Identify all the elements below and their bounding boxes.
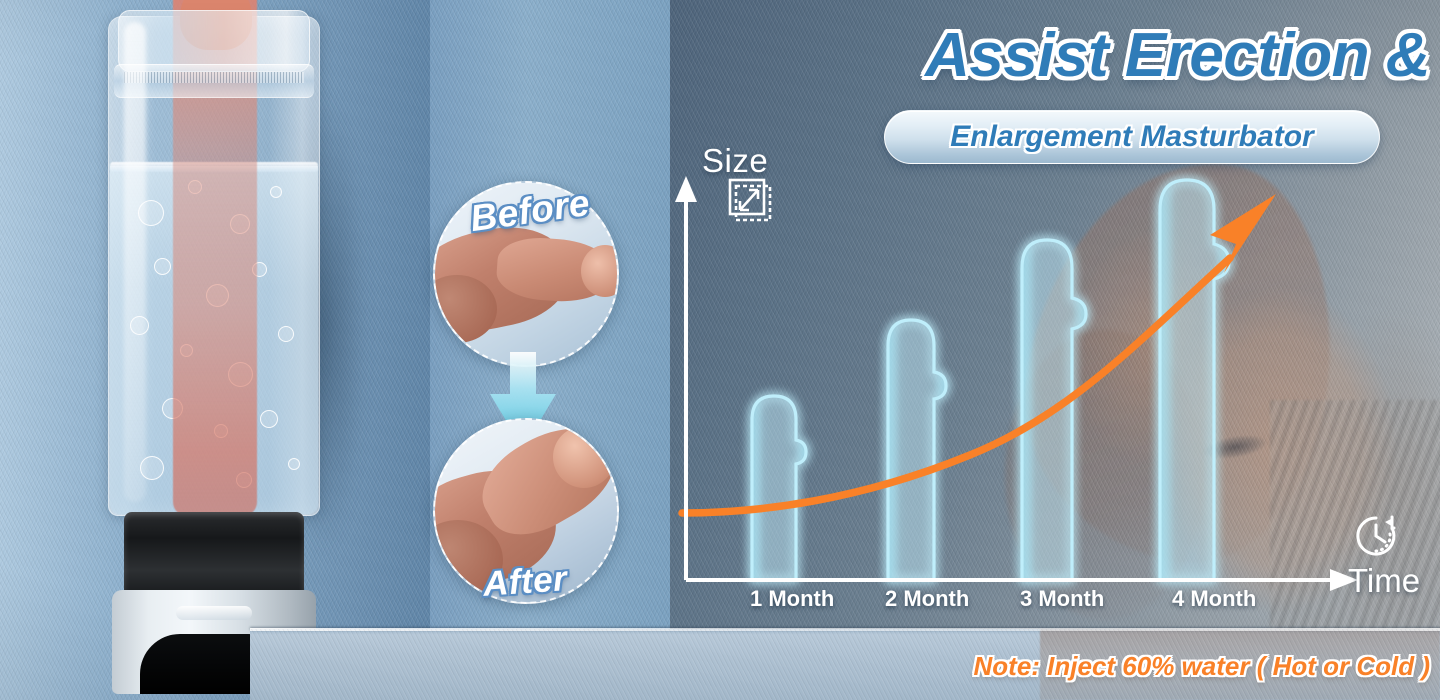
bar-4-month [1160, 180, 1229, 580]
bar-1-month [752, 396, 806, 580]
x-tick-4-month: 4 Month [1172, 586, 1256, 612]
after-label: After [482, 559, 569, 605]
growth-chart [670, 140, 1440, 640]
y-axis-label: Size [702, 142, 768, 180]
x-axis-label: Time [1348, 562, 1420, 600]
x-tick-3-month: 3 Month [1020, 586, 1104, 612]
product-ring-teeth [124, 72, 304, 83]
x-tick-1-month: 1 Month [750, 586, 834, 612]
chart-bars [752, 180, 1229, 580]
y-axis-arrowhead [675, 176, 697, 202]
page-title: Assist Erection & [770, 14, 1430, 98]
advertisement-banner: Before After Assist Erection & Enlargeme… [0, 0, 1440, 700]
product-cap [118, 10, 310, 72]
product-highlight [124, 22, 146, 502]
expand-resize-icon [726, 176, 774, 224]
bar-2-month [888, 320, 946, 580]
note-text: Note: Inject 60% water ( Hot or Cold ) [0, 651, 1430, 682]
bottom-ledge-divider [250, 628, 1440, 631]
product-image [88, 0, 358, 694]
product-base-slot [176, 606, 252, 620]
clock-history-icon [1352, 512, 1400, 560]
x-tick-2-month: 2 Month [885, 586, 969, 612]
